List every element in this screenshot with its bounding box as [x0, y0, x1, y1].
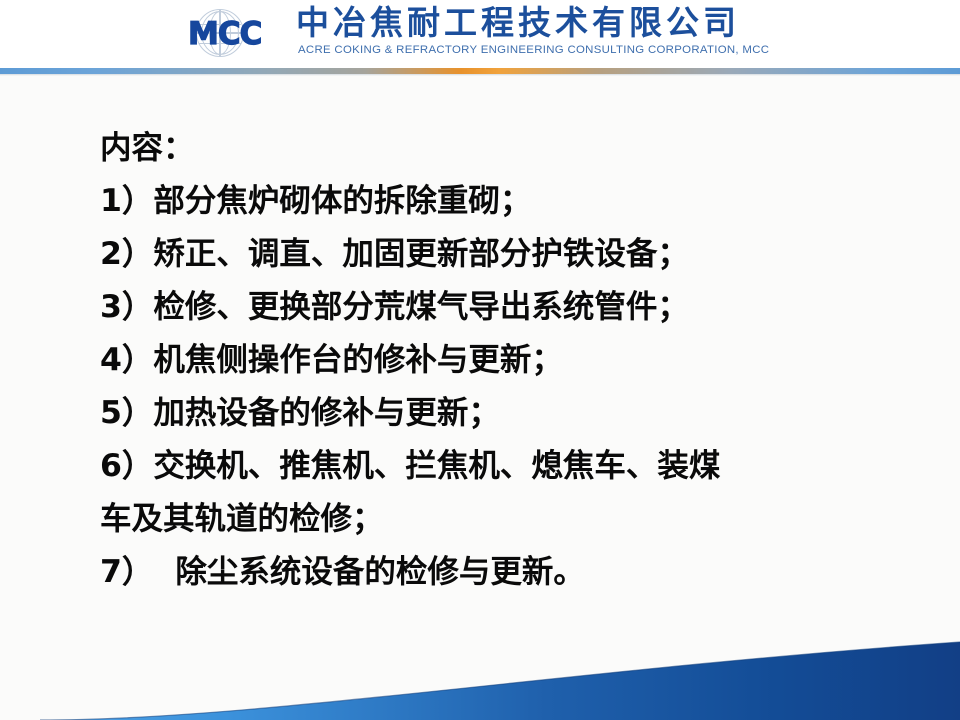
- company-brand-lockup: MCC 中冶焦耐工程技术有限公司 ACRE COKING & REFRACTOR…: [188, 4, 769, 60]
- content-item-7: 7） 除尘系统设备的检修与更新。: [100, 546, 900, 599]
- mcc-wordmark: MCC: [188, 19, 292, 50]
- company-name-block: 中冶焦耐工程技术有限公司 ACRE COKING & REFRACTORY EN…: [296, 4, 769, 57]
- company-name-en: ACRE COKING & REFRACTORY ENGINEERING CON…: [298, 43, 769, 57]
- content-item-5: 5）加热设备的修补与更新；: [100, 387, 900, 440]
- content-item-6: 6）交换机、推焦机、拦焦机、熄焦车、装煤: [100, 440, 900, 493]
- footer-decoration: [0, 610, 960, 720]
- content-item-6-continued: 车及其轨道的检修；: [100, 493, 900, 546]
- content-item-4: 4）机焦侧操作台的修补与更新；: [100, 334, 900, 387]
- slide-canvas: MCC 中冶焦耐工程技术有限公司 ACRE COKING & REFRACTOR…: [0, 0, 960, 720]
- company-name-cn: 中冶焦耐工程技术有限公司: [296, 4, 769, 42]
- header-divider-shadow: [0, 74, 960, 76]
- content-item-2: 2）矫正、调直、加固更新部分护铁设备；: [100, 228, 900, 281]
- mcc-logo: MCC: [188, 8, 292, 60]
- content-item-3: 3）检修、更换部分荒煤气导出系统管件；: [100, 281, 900, 334]
- blue-swoosh-icon: [0, 610, 960, 720]
- content-item-1: 1）部分焦炉砌体的拆除重砌；: [100, 175, 900, 228]
- slide-header: MCC 中冶焦耐工程技术有限公司 ACRE COKING & REFRACTOR…: [0, 0, 960, 68]
- content-list: 内容： 1）部分焦炉砌体的拆除重砌； 2）矫正、调直、加固更新部分护铁设备； 3…: [100, 122, 900, 599]
- content-heading: 内容：: [100, 122, 900, 175]
